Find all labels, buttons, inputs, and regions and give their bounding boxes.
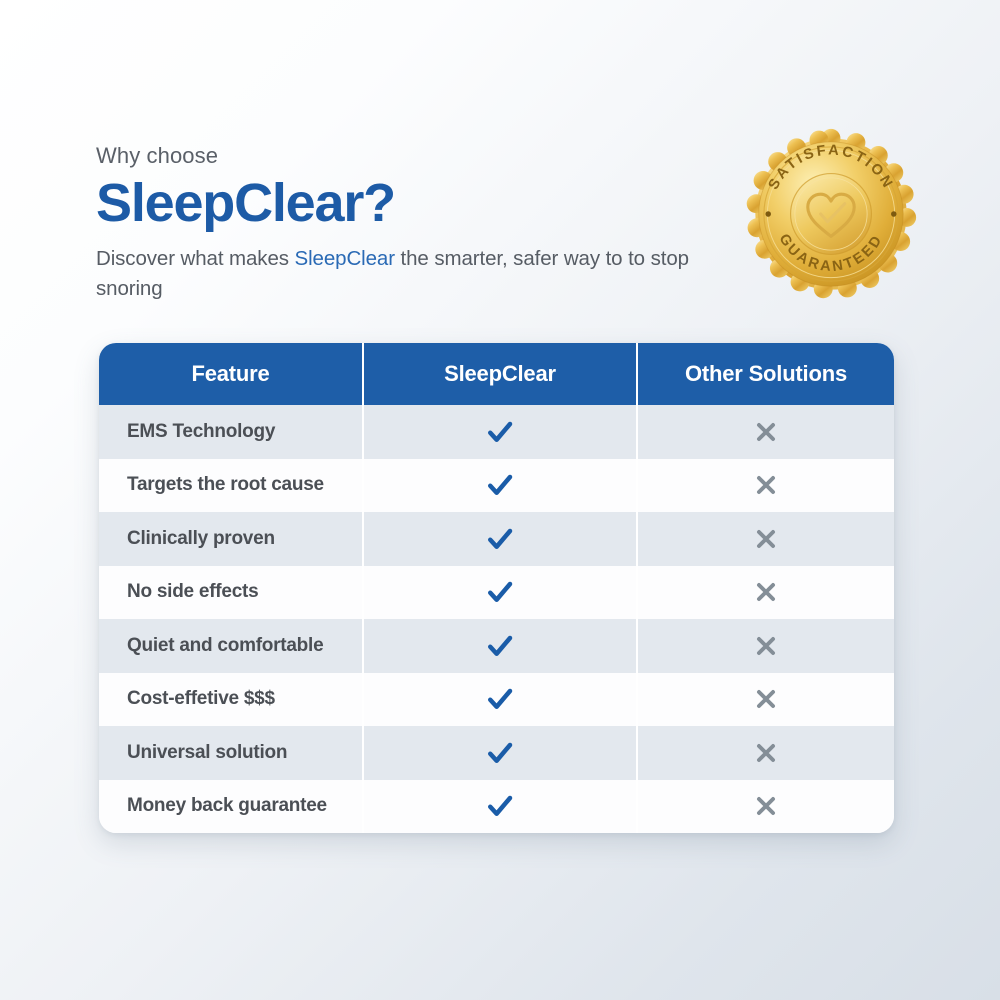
comparison-page: Why choose SleepClear? Discover what mak… (0, 0, 1000, 1000)
feature-label: Cost-effetive $$$ (99, 673, 362, 727)
badge-dot-right (891, 211, 897, 217)
cross-icon (753, 686, 779, 712)
sleepclear-mark (362, 726, 636, 780)
column-header-other-solutions: Other Solutions (636, 343, 894, 405)
check-icon (485, 791, 515, 821)
page-subtitle: Discover what makes SleepClear the smart… (96, 244, 706, 305)
feature-label: Money back guarantee (99, 780, 362, 834)
cross-icon (753, 633, 779, 659)
feature-label: Targets the root cause (99, 459, 362, 513)
table-row: Cost-effetive $$$ (99, 673, 894, 727)
page-header: Why choose SleepClear? Discover what mak… (96, 143, 706, 305)
sleepclear-mark (362, 673, 636, 727)
check-icon (485, 470, 515, 500)
table-row: Universal solution (99, 726, 894, 780)
other-solutions-mark (636, 673, 894, 727)
cross-icon (753, 740, 779, 766)
table-header-row: Feature SleepClear Other Solutions (99, 343, 894, 405)
feature-label: Universal solution (99, 726, 362, 780)
badge-dot-left (765, 211, 771, 217)
check-icon (485, 631, 515, 661)
table-row: Quiet and comfortable (99, 619, 894, 673)
eyebrow-text: Why choose (96, 143, 706, 169)
sleepclear-mark (362, 405, 636, 459)
other-solutions-mark (636, 726, 894, 780)
other-solutions-mark (636, 459, 894, 513)
table-row: EMS Technology (99, 405, 894, 459)
table-row: Targets the root cause (99, 459, 894, 513)
check-icon (485, 738, 515, 768)
table-row: Money back guarantee (99, 780, 894, 834)
other-solutions-mark (636, 619, 894, 673)
check-icon (485, 417, 515, 447)
table-row: No side effects (99, 566, 894, 620)
sleepclear-mark (362, 566, 636, 620)
sleepclear-mark (362, 459, 636, 513)
feature-label: Quiet and comfortable (99, 619, 362, 673)
subtitle-brand-accent: SleepClear (295, 247, 395, 270)
other-solutions-mark (636, 566, 894, 620)
feature-label: Clinically proven (99, 512, 362, 566)
feature-label: EMS Technology (99, 405, 362, 459)
comparison-table: Feature SleepClear Other Solutions EMS T… (99, 343, 894, 833)
check-icon (485, 684, 515, 714)
cross-icon (753, 472, 779, 498)
cross-icon (753, 526, 779, 552)
other-solutions-mark (636, 405, 894, 459)
sleepclear-mark (362, 780, 636, 834)
table-body: EMS TechnologyTargets the root causeClin… (99, 405, 894, 833)
sleepclear-mark (362, 512, 636, 566)
check-icon (485, 577, 515, 607)
cross-icon (753, 793, 779, 819)
page-title: SleepClear? (96, 173, 706, 233)
other-solutions-mark (636, 780, 894, 834)
feature-label: No side effects (99, 566, 362, 620)
cross-icon (753, 419, 779, 445)
cross-icon (753, 579, 779, 605)
other-solutions-mark (636, 512, 894, 566)
subtitle-part-1: Discover what makes (96, 247, 295, 270)
sleepclear-mark (362, 619, 636, 673)
satisfaction-guarantee-badge: SATISFACTION GUARANTEED (745, 128, 917, 300)
check-icon (485, 524, 515, 554)
table-row: Clinically proven (99, 512, 894, 566)
column-header-sleepclear: SleepClear (362, 343, 636, 405)
column-header-feature: Feature (99, 343, 362, 405)
